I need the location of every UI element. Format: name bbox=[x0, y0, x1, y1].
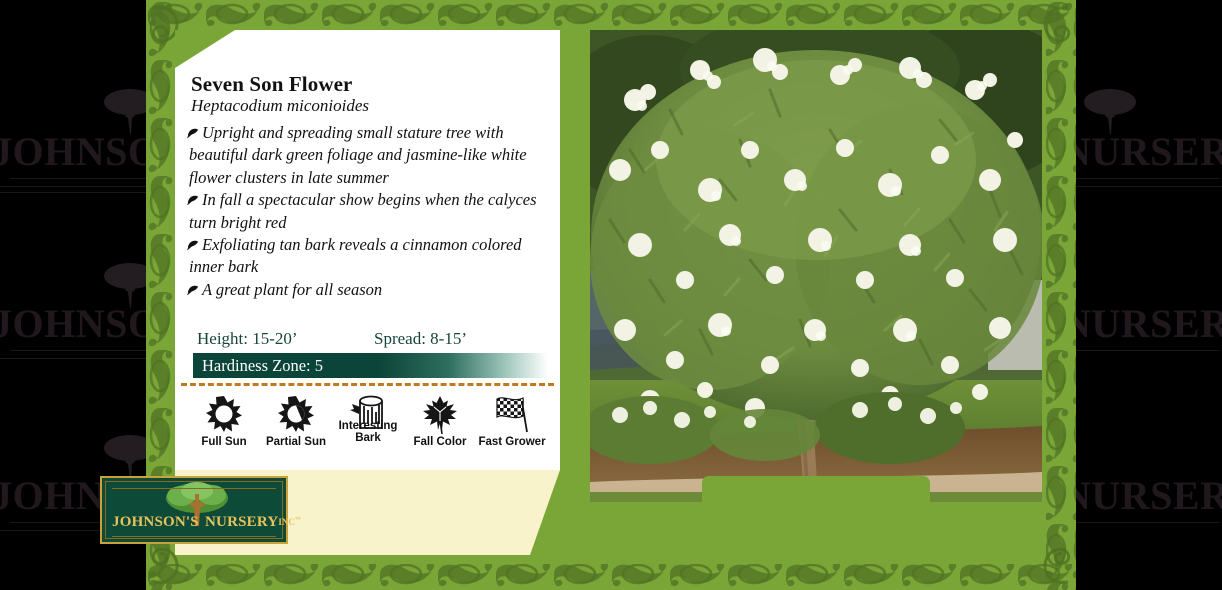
attribute-label: Fall Color bbox=[413, 436, 466, 448]
attribute-label: Fast Grower bbox=[478, 436, 545, 448]
attribute-label: Partial Sun bbox=[266, 436, 326, 448]
logo-word-left: JOHNSON'S bbox=[112, 514, 199, 531]
watermark-text: NURSERY bbox=[1062, 473, 1222, 518]
attribute-label: Full Sun bbox=[201, 436, 246, 448]
logo-rule bbox=[112, 536, 276, 537]
hardiness-zone-label: Hardiness Zone: 5 bbox=[202, 356, 323, 376]
watermark-text: NURSERY bbox=[1062, 301, 1222, 346]
latin-name: Heptacodium miconioides bbox=[191, 96, 369, 116]
watermark-rule bbox=[1070, 178, 1220, 179]
list-item-text: A great plant for all season bbox=[202, 280, 382, 299]
list-item-text: Upright and spreading small stature tree… bbox=[189, 123, 527, 187]
attribute-fall-color: Fall Color bbox=[405, 394, 475, 448]
hardiness-zone-bar: Hardiness Zone: 5 bbox=[193, 353, 548, 378]
watermark-rule bbox=[0, 358, 155, 359]
photo-bottom-tab bbox=[702, 476, 930, 502]
attribute-label: Interesting Bark bbox=[333, 420, 403, 444]
attribute-fast-grower: Fast Grower bbox=[477, 394, 547, 448]
attribute-full-sun: Full Sun bbox=[189, 394, 259, 448]
list-item: In fall a spectacular show begins when t… bbox=[189, 189, 549, 234]
watermark-rule bbox=[1070, 350, 1220, 351]
list-item: A great plant for all season bbox=[189, 279, 549, 301]
watermark-rule bbox=[1070, 522, 1220, 523]
partial-sun-icon bbox=[278, 394, 314, 434]
attribute-interesting-bark: Interesting Bark bbox=[333, 394, 403, 444]
logo-nursery-text: NURSERY bbox=[205, 514, 278, 530]
list-item-text: Exfoliating tan bark reveals a cinnamon … bbox=[189, 235, 522, 276]
attribute-icon-row: Full Sun Partial Sun bbox=[183, 394, 553, 466]
list-item: Exfoliating tan bark reveals a cinnamon … bbox=[189, 234, 549, 279]
watermark-rule bbox=[0, 192, 150, 193]
fast-grower-icon bbox=[493, 394, 531, 434]
logo-tm-text: ™ bbox=[295, 517, 301, 523]
watermark-rule bbox=[10, 350, 160, 351]
watermark-right-3: NURSERYINC™ bbox=[1062, 472, 1222, 519]
plant-photo bbox=[590, 30, 1042, 502]
fall-color-icon bbox=[421, 394, 459, 434]
watermark-right-2: NURSERYINC™ bbox=[1062, 300, 1222, 347]
height-label: Height: 15-20’ bbox=[197, 329, 298, 349]
watermark-tree-icon bbox=[1075, 88, 1145, 134]
plant-photo-art bbox=[590, 30, 1042, 502]
leaf-bullet-icon bbox=[187, 193, 200, 206]
spread-label: Spread: 8-15’ bbox=[374, 329, 467, 349]
watermark-rule bbox=[1062, 186, 1222, 187]
list-item-text: In fall a spectacular show begins when t… bbox=[189, 190, 537, 231]
leaf-bullet-icon bbox=[187, 238, 200, 251]
attribute-partial-sun: Partial Sun bbox=[261, 394, 331, 448]
feature-list: Upright and spreading small stature tree… bbox=[189, 122, 549, 301]
divider-top bbox=[181, 383, 554, 386]
company-logo[interactable]: JOHNSON'S NURSERYINC™ bbox=[100, 476, 288, 544]
page-title: Seven Son Flower bbox=[191, 72, 352, 97]
watermark-text: NURSERY bbox=[1062, 129, 1222, 174]
leaf-bullet-icon bbox=[187, 283, 200, 296]
screenshot-root: JOHNSON'S JOHNSON'S JOHNSON'S NURSERYINC… bbox=[0, 0, 1222, 590]
leaf-bullet-icon bbox=[187, 126, 200, 139]
logo-word-right: NURSERYINC™ bbox=[205, 514, 301, 531]
logo-rule bbox=[112, 488, 276, 489]
list-item: Upright and spreading small stature tree… bbox=[189, 122, 549, 189]
watermark-right-1: NURSERYINC™ bbox=[1062, 128, 1222, 175]
watermark-rule bbox=[10, 178, 160, 179]
full-sun-icon bbox=[206, 394, 242, 434]
watermark-rule bbox=[0, 186, 155, 187]
logo-inc-text: INC bbox=[278, 517, 295, 527]
